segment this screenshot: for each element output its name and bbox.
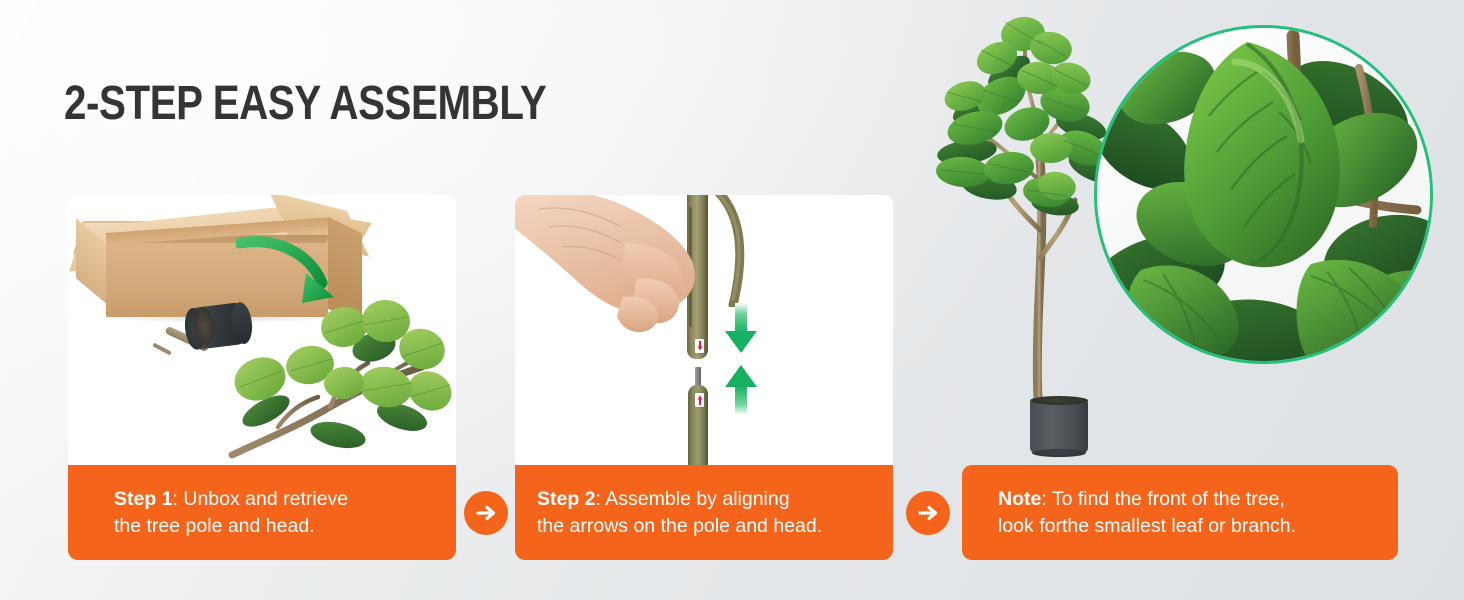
step-1-caption: Step 1: Unbox and retrieve the tree pole… xyxy=(68,465,456,560)
step-2-caption: Step 2: Assemble by aligning the arrows … xyxy=(515,465,893,560)
step-1-text-line1: Unbox and retrieve xyxy=(183,488,348,510)
leaf-branch-icon xyxy=(226,287,452,463)
assembly-illustration xyxy=(515,195,893,465)
step-card-1: Step 1: Unbox and retrieve the tree pole… xyxy=(68,195,456,560)
green-up-arrow-icon xyxy=(725,365,757,415)
step-1-separator: : xyxy=(173,488,184,510)
note-text-line1: To find the front of the tree, xyxy=(1052,488,1285,510)
step-1-label: Step 1 xyxy=(114,488,173,510)
connector-2 xyxy=(906,491,950,535)
unbox-illustration xyxy=(68,195,456,465)
note-panel: Note: To find the front of the tree, loo… xyxy=(962,465,1398,560)
note-text-line2: look forthe smallest leaf or branch. xyxy=(998,515,1296,537)
step-1-image xyxy=(68,195,456,465)
page-title: 2-STEP EASY ASSEMBLY xyxy=(64,76,546,131)
arrow-right-circle-icon xyxy=(474,501,498,525)
alignment-arrows xyxy=(721,303,761,415)
step-1-text-line2: the tree pole and head. xyxy=(114,515,315,537)
step-2-image xyxy=(515,195,893,465)
red-arrow-sticker-lower xyxy=(695,393,704,407)
red-up-arrow-icon xyxy=(697,395,703,405)
step-2-label: Step 2 xyxy=(537,488,596,510)
note-label: Note xyxy=(998,488,1041,510)
hand-icon xyxy=(515,195,745,335)
red-arrow-sticker-upper xyxy=(695,339,704,353)
green-down-arrow-icon xyxy=(725,303,757,353)
step-card-2: Step 2: Assemble by aligning the arrows … xyxy=(515,195,893,560)
promo-banner: 2-STEP EASY ASSEMBLY xyxy=(0,0,1464,600)
leaf-closeup-art xyxy=(1097,28,1430,361)
red-down-arrow-icon xyxy=(697,341,703,351)
leaf-closeup-inset xyxy=(1094,25,1433,364)
step-2-text-line2: the arrows on the pole and head. xyxy=(537,515,822,537)
step-2-separator: : xyxy=(596,488,606,510)
step-2-text-line1: Assemble by aligning xyxy=(605,488,789,510)
pole-stub-tip xyxy=(152,343,172,356)
note-separator: : xyxy=(1041,488,1051,510)
connector-1 xyxy=(464,491,508,535)
product-image xyxy=(905,0,1464,465)
arrow-right-circle-icon xyxy=(916,501,940,525)
product-pot xyxy=(1030,400,1088,453)
